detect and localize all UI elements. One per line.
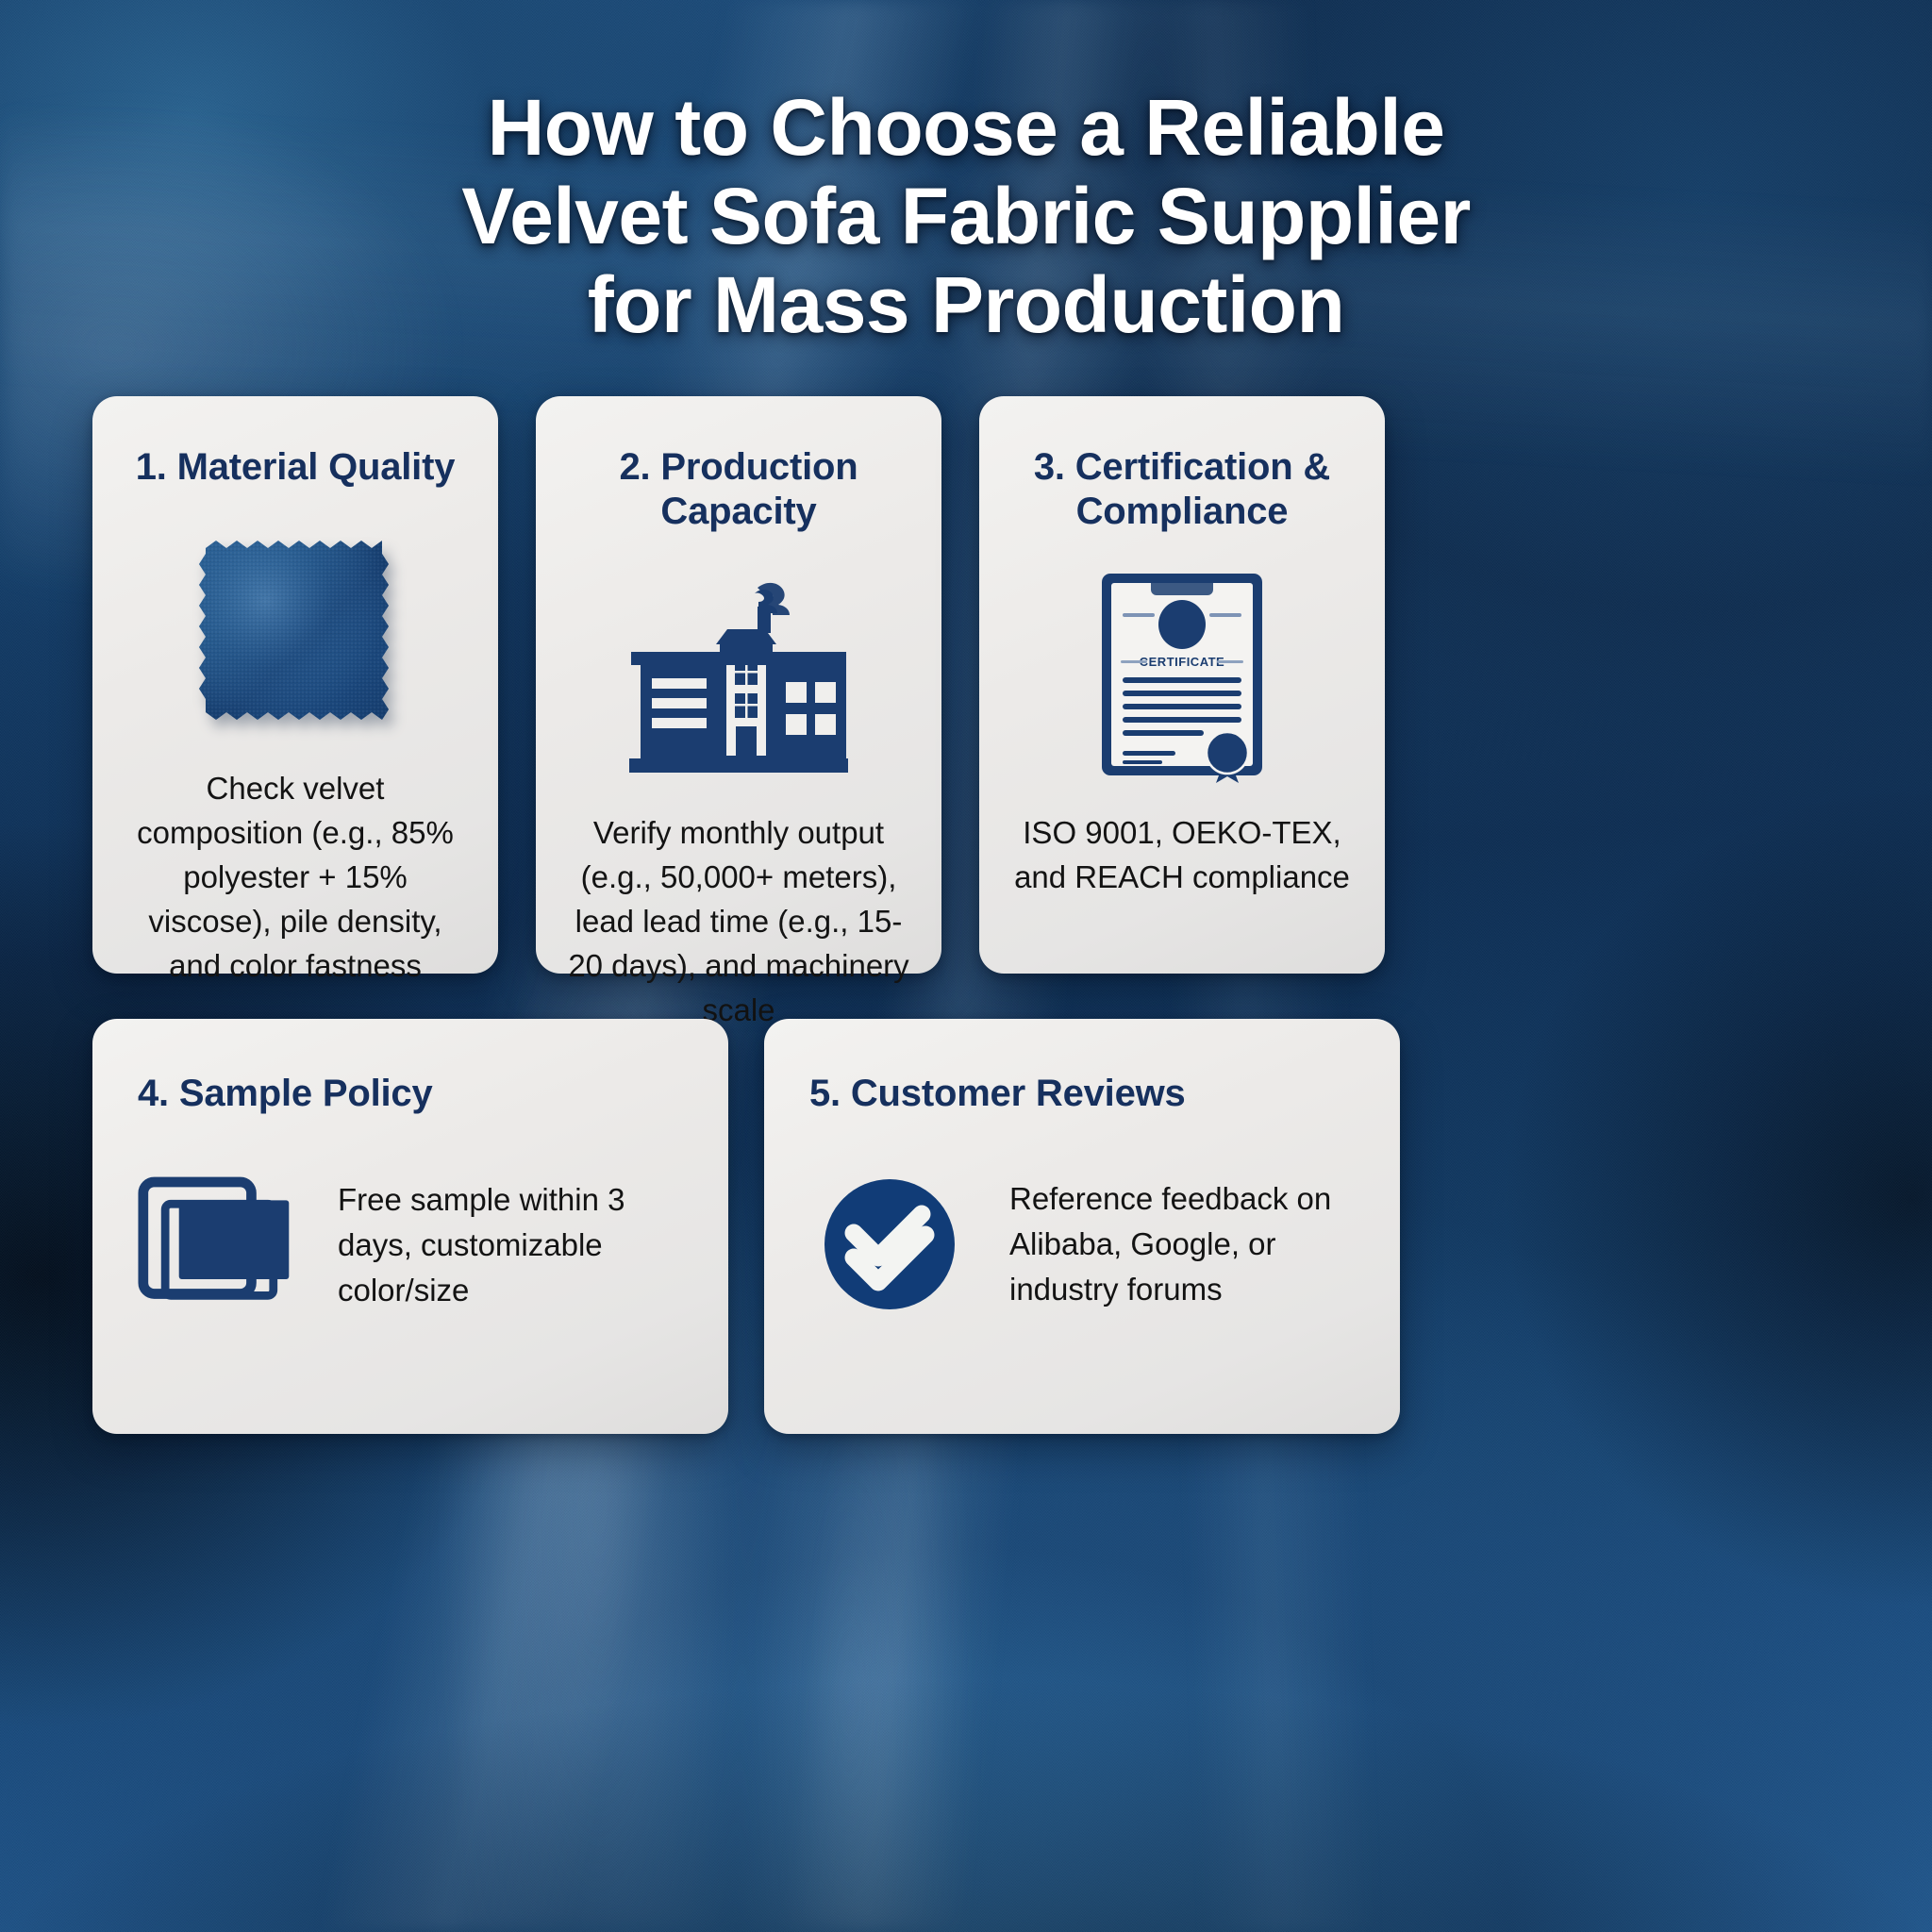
card-title: 2. Production Capacity: [560, 445, 917, 534]
card-icon-slot: [117, 514, 474, 750]
card-title: 1. Material Quality: [117, 445, 474, 490]
card-body-text: ISO 9001, OEKO-TEX, and REACH compliance: [1004, 811, 1360, 900]
card-body-text: Reference feedback on Alibaba, Google, o…: [1009, 1176, 1362, 1313]
layered-swatches-icon: [138, 1174, 298, 1316]
certificate-label: CERTIFICATE: [1140, 655, 1224, 669]
card-icon-slot: [809, 1174, 970, 1314]
card-icon-slot: [138, 1174, 298, 1316]
title-line-2: Velvet Sofa Fabric Supplier: [170, 172, 1762, 260]
card-icon-slot: [560, 558, 917, 794]
card-production-capacity[interactable]: 2. Production Capacity: [536, 396, 941, 974]
card-material-quality[interactable]: 1. Material Quality: [92, 396, 498, 974]
card-body-text: Verify monthly output (e.g., 50,000+ met…: [560, 811, 917, 1032]
card-grid-top: 1. Material Quality: [92, 396, 1840, 974]
page-title: How to Choose a Reliable Velvet Sofa Fab…: [0, 83, 1932, 349]
card-icon-slot: CERTIFICATE: [1004, 558, 1360, 794]
card-title: 5. Customer Reviews: [802, 1072, 1362, 1116]
double-check-circle-icon: [820, 1174, 959, 1314]
infographic-canvas: How to Choose a Reliable Velvet Sofa Fab…: [0, 0, 1932, 1932]
card-title: 4. Sample Policy: [130, 1072, 691, 1116]
card-certification-compliance[interactable]: 3. Certification & Compliance CERTIFICAT…: [979, 396, 1385, 974]
title-line-3: for Mass Production: [170, 260, 1762, 349]
card-title: 3. Certification & Compliance: [1004, 445, 1360, 534]
certificate-icon: CERTIFICATE: [1092, 566, 1272, 788]
card-body-text: Free sample within 3 days, customizable …: [338, 1177, 691, 1314]
factory-icon: [616, 573, 861, 780]
card-body-text: Check velvet composition (e.g., 85% poly…: [117, 767, 474, 988]
fabric-swatch-icon: [196, 533, 394, 731]
card-sample-policy[interactable]: 4. Sample Policy Free sample within 3 da…: [92, 1019, 728, 1434]
card-customer-reviews[interactable]: 5. Customer Reviews Reference feedback o…: [764, 1019, 1400, 1434]
card-grid-bottom: 4. Sample Policy Free sample within 3 da…: [92, 1019, 1840, 1434]
title-line-1: How to Choose a Reliable: [170, 83, 1762, 172]
